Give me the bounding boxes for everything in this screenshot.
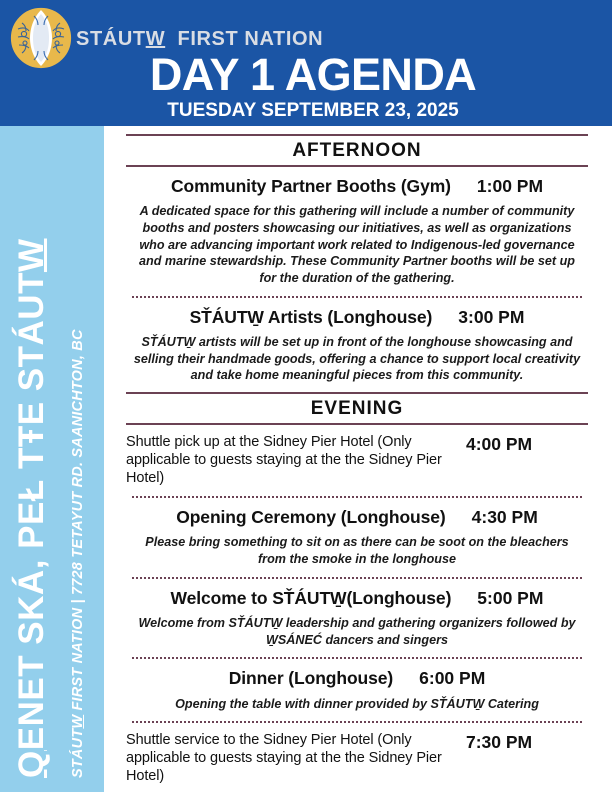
agenda-item-time: 7:30 PM — [466, 732, 532, 752]
sidebar-address-t: T — [70, 759, 86, 768]
sidebar-headline-q: Q — [12, 750, 51, 778]
sidebar-headline-part-c: , PEŁ TŦE S — [12, 367, 51, 569]
agenda-content: AFTERNOON Community Partner Booths (Gym)… — [118, 126, 598, 792]
agenda-item-title: Welcome to SŤÁUTW̱(Longhouse) — [171, 588, 452, 608]
sidebar-headline-part-d: T — [12, 345, 51, 367]
section-heading-evening: EVENING — [126, 392, 588, 425]
agenda-item-title: Community Partner Booths (Gym) — [171, 176, 451, 196]
agenda-item: Opening Ceremony (Longhouse) 4:30 PM Ple… — [126, 507, 588, 579]
agenda-item: Welcome to SŤÁUTW̱(Longhouse) 5:00 PM We… — [126, 588, 588, 660]
agenda-item-row: Welcome to SŤÁUTW̱(Longhouse) 5:00 PM — [126, 588, 588, 608]
agenda-item: Shuttle pick up at the Sidney Pier Hotel… — [126, 434, 588, 498]
sidebar-address-s: S — [70, 768, 86, 778]
agenda-item-row: Shuttle service to the Sidney Pier Hotel… — [126, 732, 588, 785]
sidebar-headline-w-underlined: W — [12, 239, 51, 273]
sidebar-headline-part-e: ÁUT — [12, 272, 51, 345]
agenda-item: SŤÁUTW̱ Artists (Longhouse) 3:00 PM SŤÁU… — [126, 307, 588, 384]
item-divider — [132, 657, 582, 659]
agenda-item-description: Opening the table with dinner provided b… — [132, 696, 582, 713]
agenda-item-description: Welcome from SŤÁUTW̱ leadership and gath… — [132, 615, 582, 648]
brand-t: T — [90, 28, 103, 50]
sidebar-address: STÁUTW FIRST NATION | 7728 TETAYUT RD. S… — [70, 329, 86, 778]
agenda-item-title: Dinner (Longhouse) — [229, 668, 393, 688]
agenda-item-row: SŤÁUTW̱ Artists (Longhouse) 3:00 PM — [126, 307, 588, 327]
sidebar-address-w-underlined: W — [70, 715, 86, 729]
agenda-item-title: Shuttle service to the Sidney Pier Hotel… — [126, 732, 456, 785]
item-divider — [132, 721, 582, 723]
brand-first-nation: FIRST NATION — [178, 28, 324, 50]
agenda-item-title: Shuttle pick up at the Sidney Pier Hotel… — [126, 434, 456, 487]
agenda-item-title: Opening Ceremony (Longhouse) — [176, 507, 445, 527]
brand-name: STÁUTW FIRST NATION — [76, 28, 323, 51]
page-title: DAY 1 AGENDA — [0, 52, 612, 97]
agenda-item-row: Shuttle pick up at the Sidney Pier Hotel… — [126, 434, 588, 487]
agenda-item-time: 5:00 PM — [477, 588, 543, 608]
agenda-item: Dinner (Longhouse) 6:00 PM Opening the t… — [126, 668, 588, 723]
sidebar-headline-part-b: ENET SKÁ — [12, 569, 51, 750]
agenda-item-row: Opening Ceremony (Longhouse) 4:30 PM — [126, 507, 588, 527]
sidebar: QENET SKÁ, PEŁ TŦE STÁUTW STÁUTW FIRST N… — [0, 126, 104, 792]
agenda-item-time: 1:00 PM — [477, 176, 543, 196]
brand-s: S — [76, 28, 90, 50]
sidebar-address-rest: ÁUT — [70, 729, 86, 759]
agenda-item-row: Dinner (Longhouse) 6:00 PM — [126, 668, 588, 688]
section-heading-label: AFTERNOON — [292, 140, 421, 161]
sidebar-address-tail: FIRST NATION | 7728 TETAYUT RD. SAANICHT… — [70, 329, 86, 714]
agenda-item-description: Please bring something to sit on as ther… — [132, 534, 582, 567]
brand-w-underlined: W — [146, 28, 165, 50]
agenda-item: Shuttle service to the Sidney Pier Hotel… — [126, 732, 588, 785]
agenda-item-time: 4:00 PM — [466, 434, 532, 454]
page-date: TUESDAY SEPTEMBER 23, 2025 — [0, 101, 612, 120]
agenda-item: Community Partner Booths (Gym) 1:00 PM A… — [126, 176, 588, 298]
section-heading-afternoon: AFTERNOON — [126, 134, 588, 167]
agenda-item-description: SŤÁUTW̱ artists will be set up in front … — [132, 334, 582, 384]
item-divider — [132, 577, 582, 579]
item-divider — [132, 496, 582, 498]
sidebar-headline: QENET SKÁ, PEŁ TŦE STÁUTW — [12, 239, 52, 779]
section-heading-label: EVENING — [311, 398, 404, 419]
agenda-item-time: 4:30 PM — [472, 507, 538, 527]
agenda-item-description: A dedicated space for this gathering wil… — [132, 203, 582, 287]
brand-rest: ÁUT — [103, 28, 146, 50]
agenda-item-row: Community Partner Booths (Gym) 1:00 PM — [126, 176, 588, 196]
agenda-item-time: 3:00 PM — [458, 307, 524, 327]
agenda-item-time: 6:00 PM — [419, 668, 485, 688]
item-divider — [132, 296, 582, 298]
agenda-item-title: SŤÁUTW̱ Artists (Longhouse) — [190, 307, 433, 327]
page-header: STÁUTW FIRST NATION DAY 1 AGENDA TUESDAY… — [0, 0, 612, 126]
